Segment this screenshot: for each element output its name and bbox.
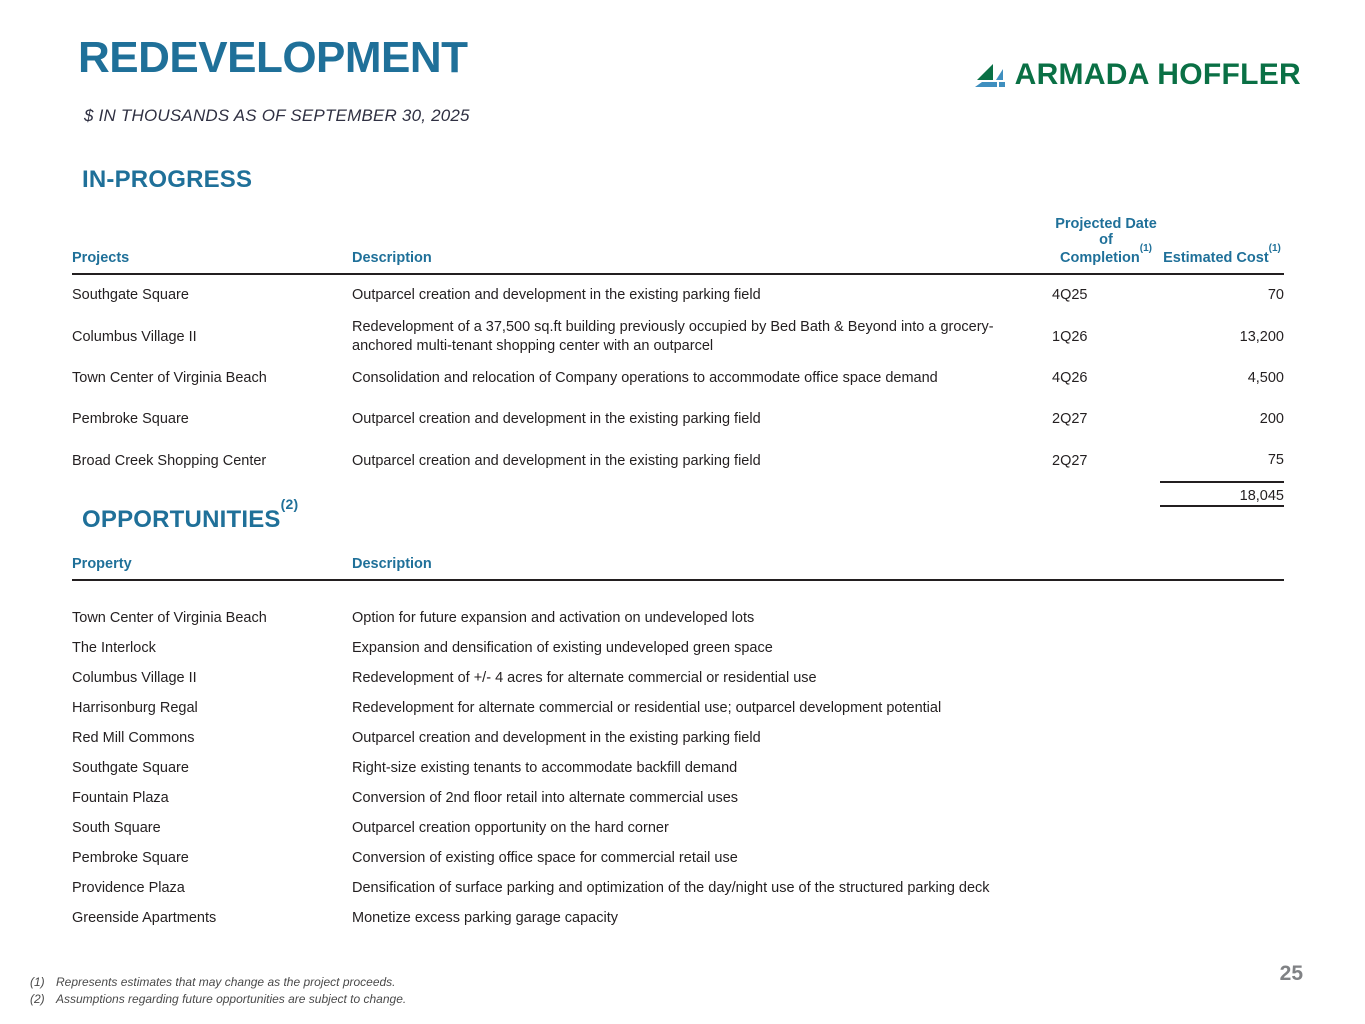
col-header-estimated-cost-label: Estimated Cost [1163, 250, 1269, 266]
col-header-opportunity-description: Description [352, 556, 1284, 580]
row-description: Outparcel creation opportunity on the ha… [352, 813, 1284, 843]
row-description: Expansion and densification of existing … [352, 633, 1284, 663]
opportunities-spacer [72, 580, 352, 603]
col-header-estimated-cost: Estimated Cost(1) [1160, 216, 1284, 274]
page-number: 25 [1280, 962, 1303, 986]
footnote-1-text: Represents estimates that may change as … [56, 975, 396, 989]
row-projected-date: 1Q26 [1052, 316, 1160, 358]
row-description: Densification of surface parking and opt… [352, 873, 1284, 903]
row-project-name: Broad Creek Shopping Center [72, 440, 352, 482]
row-projected-date: 4Q25 [1052, 274, 1160, 316]
row-property-name: Southgate Square [72, 753, 352, 783]
opportunities-title-label: OPPORTUNITIES [82, 506, 281, 533]
table-row: Red Mill Commons Outparcel creation and … [72, 723, 1284, 753]
row-estimated-cost: 4,500 [1160, 358, 1284, 399]
col-header-property: Property [72, 556, 352, 580]
footnote-2-text: Assumptions regarding future opportuniti… [56, 992, 406, 1006]
row-description: Consolidation and relocation of Company … [352, 358, 1052, 399]
company-logo: ARMADA HOFFLER [973, 58, 1301, 92]
row-description: Conversion of existing office space for … [352, 843, 1284, 873]
col-header-projected-date: Projected Date of Completion(1) [1052, 216, 1160, 274]
slide-header: REDEVELOPMENT $ IN THOUSANDS AS OF SEPTE… [0, 0, 1365, 150]
col-header-projected-date-label: Projected Date of Completion [1055, 216, 1157, 266]
row-property-name: The Interlock [72, 633, 352, 663]
row-description: Outparcel creation and development in th… [352, 274, 1052, 316]
footnote-1-mark: (1) [30, 974, 56, 991]
footnotes: (1)Represents estimates that may change … [30, 974, 406, 1008]
col-header-projects: Projects [72, 216, 352, 274]
total-spacer [352, 482, 1052, 507]
table-row: Greenside Apartments Monetize excess par… [72, 903, 1284, 933]
row-property-name: Harrisonburg Regal [72, 693, 352, 723]
row-estimated-cost: 75 [1160, 440, 1284, 482]
armada-hoffler-mark-icon [973, 60, 1007, 90]
row-description: Outparcel creation and development in th… [352, 440, 1052, 482]
row-property-name: Providence Plaza [72, 873, 352, 903]
page-title: REDEVELOPMENT [78, 36, 468, 80]
row-description: Option for future expansion and activati… [352, 603, 1284, 633]
table-row: Broad Creek Shopping Center Outparcel cr… [72, 440, 1284, 482]
row-estimated-cost: 70 [1160, 274, 1284, 316]
total-spacer [1052, 482, 1160, 507]
total-row: 18,045 [72, 482, 1284, 507]
total-estimated-cost: 18,045 [1160, 482, 1284, 507]
col-header-projected-date-sup: (1) [1140, 243, 1152, 254]
row-description: Outparcel creation and development in th… [352, 723, 1284, 753]
table-row: Town Center of Virginia Beach Option for… [72, 603, 1284, 633]
row-property-name: South Square [72, 813, 352, 843]
row-property-name: Pembroke Square [72, 843, 352, 873]
table-row: Harrisonburg Regal Redevelopment for alt… [72, 693, 1284, 723]
opportunities-header-row: Property Description [72, 556, 1284, 580]
row-description: Redevelopment of +/- 4 acres for alterna… [352, 663, 1284, 693]
row-property-name: Town Center of Virginia Beach [72, 603, 352, 633]
opportunities-table: Property Description Town Center of Virg… [72, 556, 1284, 933]
row-property-name: Fountain Plaza [72, 783, 352, 813]
table-row: Columbus Village II Redevelopment of +/-… [72, 663, 1284, 693]
in-progress-header-row: Projects Description Projected Date of C… [72, 216, 1284, 274]
opportunities-spacer [352, 580, 1284, 603]
row-description: Conversion of 2nd floor retail into alte… [352, 783, 1284, 813]
opportunities-title: OPPORTUNITIES(2) [82, 505, 1284, 534]
footnote-1: (1)Represents estimates that may change … [30, 974, 406, 991]
opportunities-spacer-row [72, 580, 1284, 603]
col-header-estimated-cost-sup: (1) [1269, 243, 1281, 254]
table-row: Pembroke Square Outparcel creation and d… [72, 399, 1284, 440]
row-property-name: Greenside Apartments [72, 903, 352, 933]
table-row: Columbus Village II Redevelopment of a 3… [72, 316, 1284, 358]
row-project-name: Pembroke Square [72, 399, 352, 440]
row-property-name: Red Mill Commons [72, 723, 352, 753]
footnote-2: (2)Assumptions regarding future opportun… [30, 991, 406, 1008]
table-row: Town Center of Virginia Beach Consolidat… [72, 358, 1284, 399]
row-description: Right-size existing tenants to accommoda… [352, 753, 1284, 783]
row-estimated-cost: 200 [1160, 399, 1284, 440]
row-description: Monetize excess parking garage capacity [352, 903, 1284, 933]
col-header-description: Description [352, 216, 1052, 274]
row-projected-date: 4Q26 [1052, 358, 1160, 399]
table-row: South Square Outparcel creation opportun… [72, 813, 1284, 843]
table-row: Fountain Plaza Conversion of 2nd floor r… [72, 783, 1284, 813]
page-subtitle: $ IN THOUSANDS AS OF SEPTEMBER 30, 2025 [84, 106, 470, 126]
in-progress-table: Projects Description Projected Date of C… [72, 216, 1284, 512]
opportunities-title-sup: (2) [281, 496, 299, 512]
row-estimated-cost: 13,200 [1160, 316, 1284, 358]
row-description: Redevelopment for alternate commercial o… [352, 693, 1284, 723]
table-row: Southgate Square Outparcel creation and … [72, 274, 1284, 316]
row-project-name: Southgate Square [72, 274, 352, 316]
table-row: The Interlock Expansion and densificatio… [72, 633, 1284, 663]
table-row: Providence Plaza Densification of surfac… [72, 873, 1284, 903]
in-progress-title: IN-PROGRESS [82, 166, 1284, 194]
row-property-name: Columbus Village II [72, 663, 352, 693]
row-description: Redevelopment of a 37,500 sq.ft building… [352, 316, 1052, 358]
row-description: Outparcel creation and development in th… [352, 399, 1052, 440]
row-projected-date: 2Q27 [1052, 399, 1160, 440]
row-project-name: Columbus Village II [72, 316, 352, 358]
section-in-progress: IN-PROGRESS Projects Description Project… [72, 166, 1284, 512]
row-project-name: Town Center of Virginia Beach [72, 358, 352, 399]
total-spacer [72, 482, 352, 507]
table-row: Southgate Square Right-size existing ten… [72, 753, 1284, 783]
footnote-2-mark: (2) [30, 991, 56, 1008]
logo-wordmark: ARMADA HOFFLER [1015, 58, 1301, 92]
section-opportunities: OPPORTUNITIES(2) Property Description To… [72, 505, 1284, 933]
table-row: Pembroke Square Conversion of existing o… [72, 843, 1284, 873]
row-projected-date: 2Q27 [1052, 440, 1160, 482]
